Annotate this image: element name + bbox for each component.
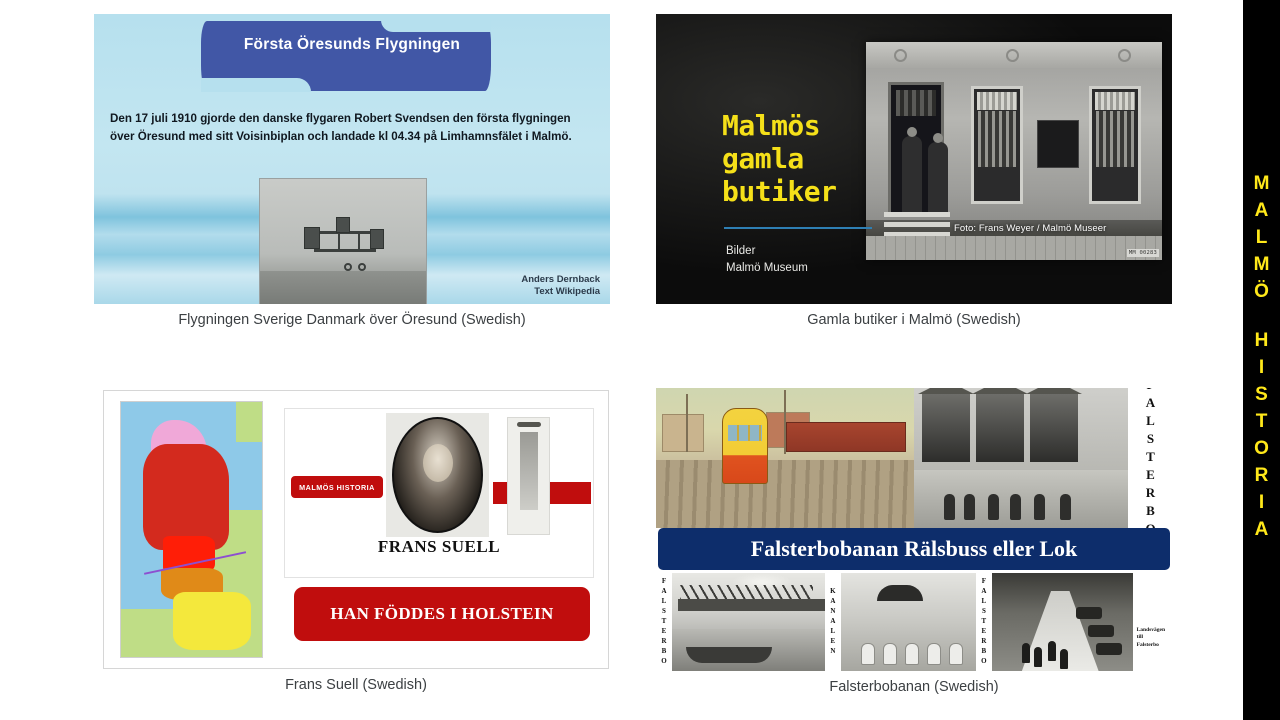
rail-letter: M	[1254, 174, 1270, 201]
rail-letter: A	[1255, 520, 1269, 547]
corner-caption-line-1: Landsvägen	[1137, 627, 1170, 634]
rail-letter: R	[1255, 466, 1269, 493]
rail-letter: M	[1254, 255, 1270, 282]
thumbnail-gamla-butiker[interactable]: Foto: Frans Weyer / Malmö Museer MM 0028…	[656, 14, 1172, 304]
rail-letter: Ö	[1254, 282, 1269, 309]
rail-letter: A	[1255, 201, 1269, 228]
video-card-gamla-butiker[interactable]: Foto: Frans Weyer / Malmö Museer MM 0028…	[656, 14, 1172, 328]
subtitle-line-2: Malmö Museum	[726, 260, 808, 277]
rail-letter: H	[1255, 331, 1269, 358]
shopfront-photo: Foto: Frans Weyer / Malmö Museer MM 0028…	[866, 42, 1162, 260]
thumbnail-frans-suell[interactable]: MALMÖS HISTORIA FRANS SUELL HAN FÖDDES I…	[103, 390, 609, 669]
vertical-label-falsterbo-top: FALSTERBO	[1128, 388, 1172, 528]
photo-dune-picnic	[841, 573, 976, 671]
vertical-label-text: FALSTERBO	[1142, 388, 1158, 539]
rail-letter: I	[1259, 493, 1264, 520]
portrait-panel: MALMÖS HISTORIA FRANS SUELL	[284, 408, 594, 578]
vertical-label-falsterbo-right: FALSTERBO	[976, 573, 992, 671]
archive-id-tag: MM 00283	[1127, 249, 1159, 257]
title-underline	[724, 227, 872, 229]
photo-credit: Foto: Frans Weyer / Malmö Museer	[954, 223, 1106, 234]
biplane-illustration	[304, 223, 384, 265]
video-card-falsterbobanan[interactable]: FALSTERBO Falsterbobanan Rälsbuss eller …	[656, 388, 1172, 695]
callout-banner: HAN FÖDDES I HOLSTEIN	[294, 587, 590, 641]
title-line-3: butiker	[722, 175, 837, 208]
photo-row-bottom: FALSTERBO KANALEN FA	[656, 573, 1172, 671]
painting-railbus-station	[656, 388, 914, 528]
rail-letter: O	[1254, 439, 1269, 466]
person-name: FRANS SUELL	[285, 537, 593, 557]
vertical-label-kanalen: KANALEN	[825, 573, 841, 671]
entry-steps	[884, 212, 950, 238]
shop-window-left	[971, 86, 1023, 204]
rail-letter: L	[1256, 228, 1268, 255]
figure-woman-2	[928, 142, 948, 214]
subtitle-line-1: Bilder	[726, 243, 808, 260]
vertical-title-rail: MALMÖHISTORIA	[1243, 0, 1280, 720]
photo-bridge-boats	[672, 573, 825, 671]
credit-author: Anders Dernback	[521, 274, 600, 286]
portrait-frans-suell	[386, 413, 489, 537]
corner-caption-block: Landsvägen till Falsterbo	[1133, 573, 1172, 671]
shop-window-right	[1089, 86, 1141, 204]
card-caption-gamla-butiker: Gamla butiker i Malmö (Swedish)	[656, 312, 1172, 328]
corner-caption-line-3: Falsterbo	[1137, 642, 1170, 649]
biplane-photo	[259, 178, 427, 304]
photo-beach-huts	[914, 388, 1128, 528]
figure-woman-1	[902, 136, 922, 214]
accent-bar-right	[549, 482, 591, 504]
rail-letter: T	[1256, 412, 1268, 439]
sea-band	[260, 271, 426, 304]
video-card-flygningen[interactable]: Första Öresunds Flygningen Den 17 juli 1…	[94, 14, 610, 328]
series-badge: MALMÖS HISTORIA	[291, 476, 383, 498]
thumbnail-falsterbobanan[interactable]: FALSTERBO Falsterbobanan Rälsbuss eller …	[656, 388, 1172, 671]
engraving-figure	[507, 417, 550, 535]
map-denmark-holstein	[120, 401, 263, 658]
credit-block: Anders Dernback Text Wikipedia	[521, 274, 600, 298]
page-root: Första Öresunds Flygningen Den 17 juli 1…	[0, 0, 1280, 720]
vertical-title-letters: MALMÖHISTORIA	[1254, 174, 1270, 547]
rail-letter: S	[1255, 385, 1268, 412]
video-card-frans-suell[interactable]: MALMÖS HISTORIA FRANS SUELL HAN FÖDDES I…	[103, 390, 609, 693]
title-banner: Falsterbobanan Rälsbuss eller Lok	[658, 528, 1170, 570]
pavement	[866, 236, 1162, 260]
photo-row-top: FALSTERBO	[656, 388, 1172, 528]
credit-source: Text Wikipedia	[521, 286, 600, 298]
thumbnail-flygningen[interactable]: Första Öresunds Flygningen Den 17 juli 1…	[94, 14, 610, 304]
banner-ribbon	[201, 21, 491, 91]
slide-body-text: Den 17 juli 1910 gjorde den danske flyga…	[110, 110, 594, 146]
photo-road-cars	[992, 573, 1133, 671]
title-line-2: gamla	[722, 142, 837, 175]
rail-letter: I	[1259, 358, 1264, 385]
slide-subtitle: Bilder Malmö Museum	[726, 243, 808, 278]
corner-caption-line-2: till	[1137, 634, 1170, 641]
map-region-holstein	[173, 592, 251, 650]
shop-sign	[1037, 120, 1079, 168]
vertical-label-falsterbo-left: FALSTERBO	[656, 573, 672, 671]
title-line-1: Malmös	[722, 109, 837, 142]
card-caption-frans-suell: Frans Suell (Swedish)	[103, 677, 609, 693]
card-caption-falsterbobanan: Falsterbobanan (Swedish)	[656, 679, 1172, 695]
slide-title: Malmös gamla butiker	[722, 109, 837, 208]
map-region-denmark	[143, 444, 229, 550]
banner-title: Första Öresunds Flygningen	[94, 36, 610, 54]
card-caption-flygningen: Flygningen Sverige Danmark över Öresund …	[94, 312, 610, 328]
